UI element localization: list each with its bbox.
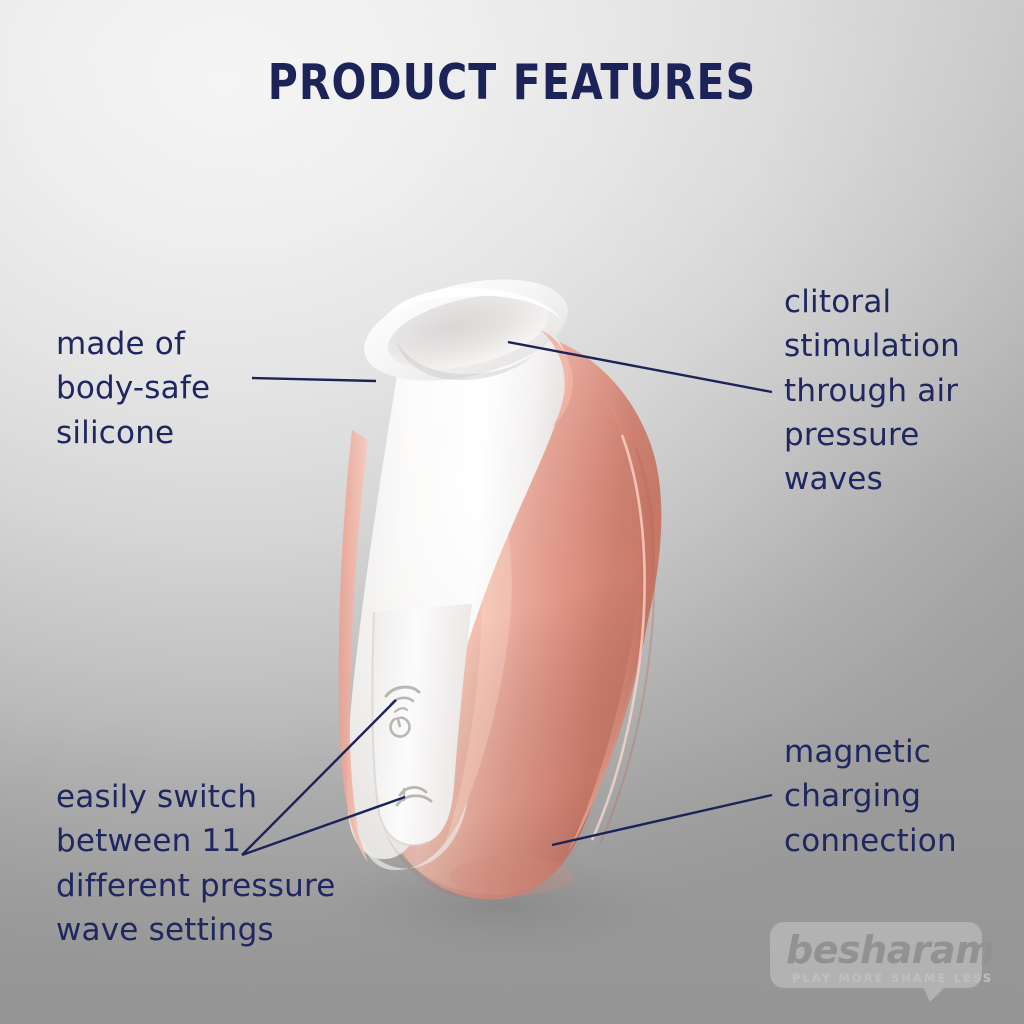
- callout-easily-switch-settings: easily switch between 11 different press…: [56, 775, 396, 952]
- page-title: PRODUCT FEATURES: [36, 58, 988, 107]
- charging-base: [450, 856, 574, 896]
- watermark-tagline: PLAY MORE SHAME LESS: [792, 971, 993, 985]
- watermark-trademark-icon: ™: [985, 928, 994, 938]
- watermark-brand-name: besharam: [786, 928, 994, 972]
- callout-clitoral-stimulation: clitoral stimulation through air pressur…: [784, 280, 1014, 502]
- product-features-infographic: PRODUCT FEATURES: [0, 0, 1024, 1024]
- callout-made-of-body-safe-silicone: made of body-safe silicone: [56, 322, 356, 455]
- callout-magnetic-charging: magnetic charging connection: [784, 730, 1024, 863]
- besharam-watermark-logo: besharam ™ PLAY MORE SHAME LESS: [770, 922, 1002, 1008]
